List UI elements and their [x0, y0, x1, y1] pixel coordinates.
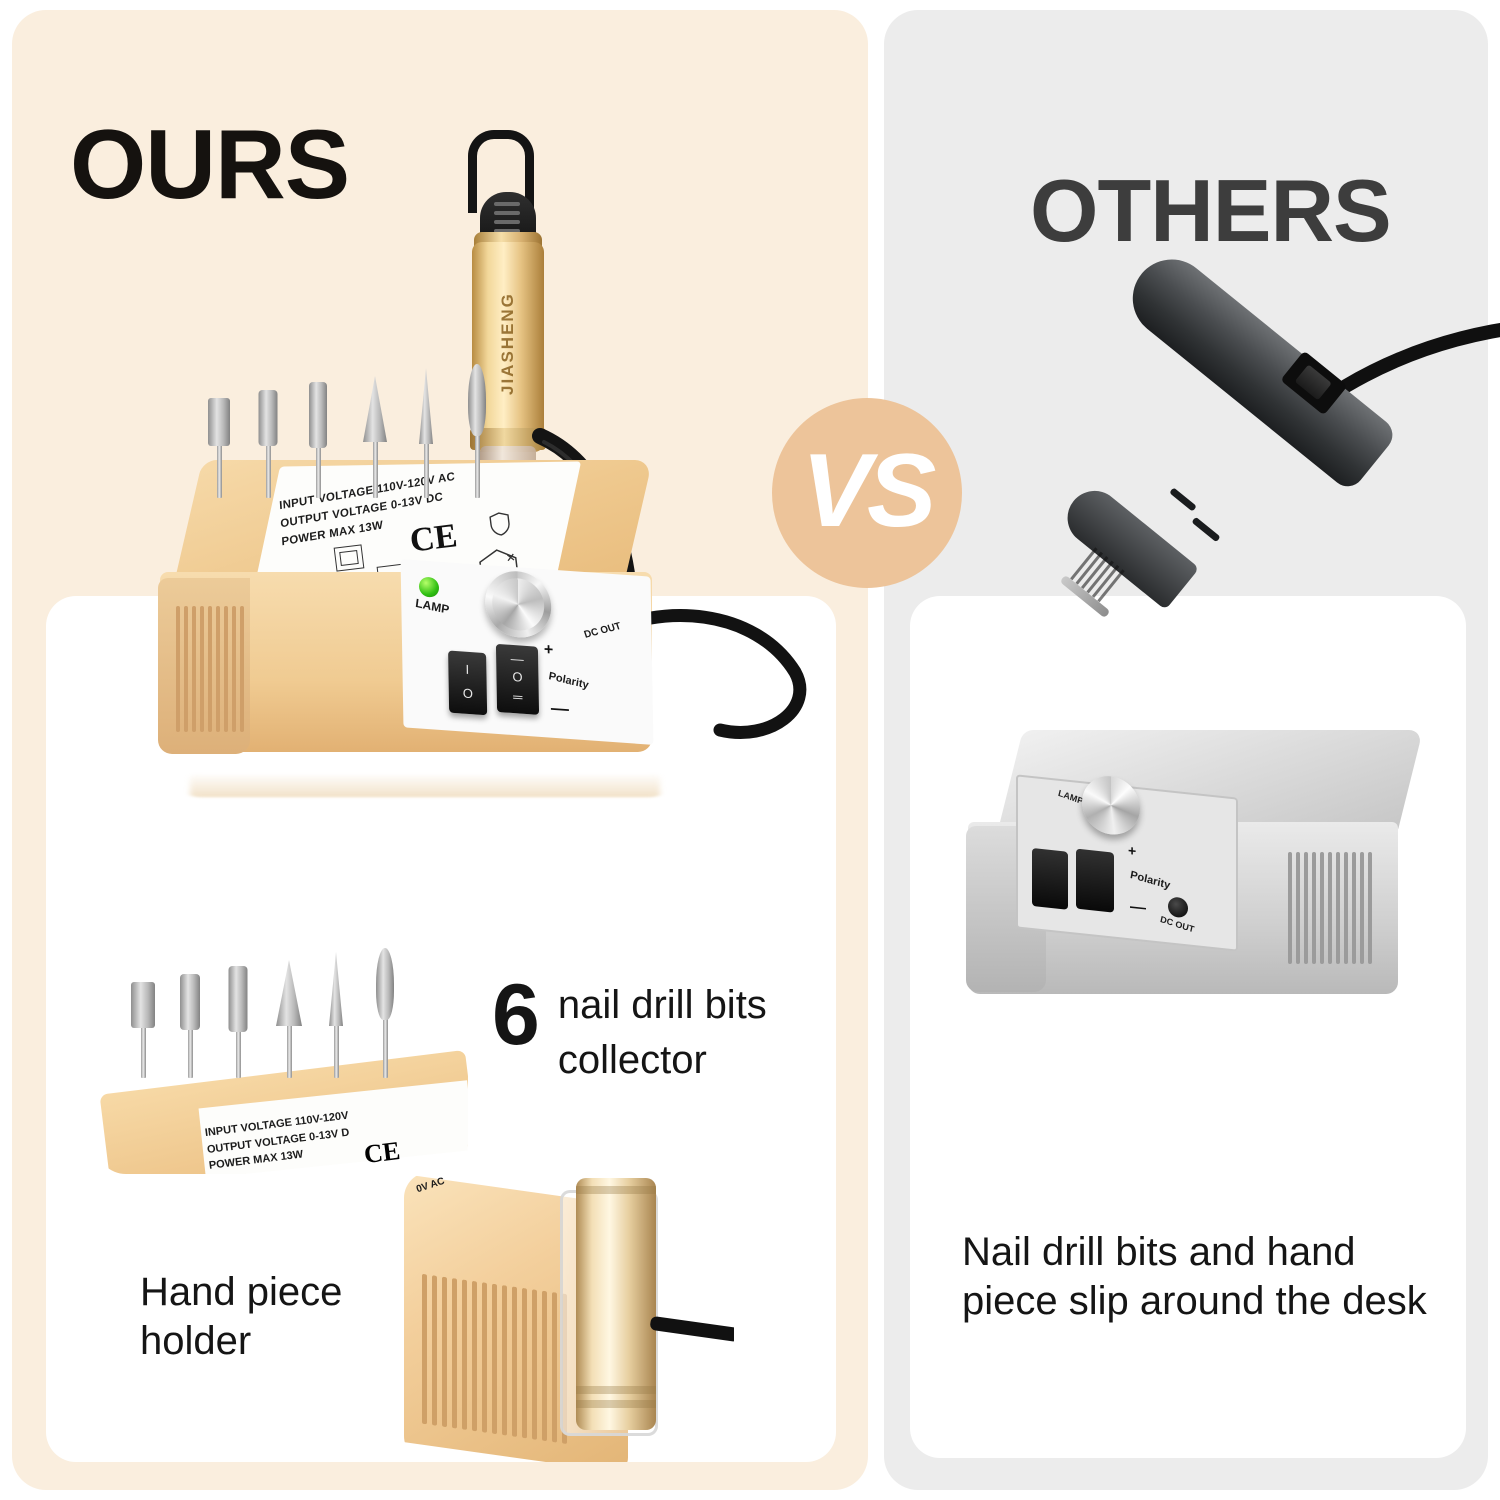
class2-insulation-icon: [334, 544, 365, 571]
others-caption: Nail drill bits and hand piece slip arou…: [962, 1228, 1462, 1326]
bits-collector-illustration: INPUT VOLTAGE 110V-120V OUTPUT VOLTAGE 0…: [96, 922, 468, 1174]
bits-collector-caption: 6 nail drill bits collector: [492, 975, 822, 1085]
polarity-switch-mid-glyph: O: [512, 669, 522, 685]
polarity-minus-label: —: [551, 698, 569, 720]
product-reflection: [190, 773, 660, 798]
polarity-switch-top-glyph: —: [511, 651, 524, 667]
drill-bit: [226, 966, 250, 1078]
shield-icon: [489, 511, 512, 537]
others-handpiece-slot: [1169, 487, 1197, 511]
dc-out-label: DC OUT: [583, 621, 623, 641]
bits-caption-line1: nail drill bits: [492, 975, 822, 1030]
bits-count: 6: [492, 975, 540, 1057]
others-polarity-label: Polarity: [1129, 869, 1171, 892]
others-polarity-switch[interactable]: [1076, 849, 1114, 913]
lamp-label: LAMP: [415, 596, 450, 617]
others-handpiece-illustration: [1040, 330, 1460, 700]
drill-bit: [206, 398, 232, 498]
handpiece-holder-photo-card: 0V AC: [404, 1172, 734, 1462]
drill-bit: [326, 952, 346, 1078]
comparison-infographic: OURS JIASHENG: [0, 0, 1500, 1500]
holder-vent-slots: [420, 1273, 570, 1444]
ce-mark-icon: CE: [408, 517, 460, 560]
others-caption-line2: piece slip around the desk: [962, 1277, 1462, 1326]
switch-off-glyph: O: [463, 685, 473, 701]
bits-collector-photo-card: INPUT VOLTAGE 110V-120V OUTPUT VOLTAGE 0…: [96, 922, 468, 1174]
inset-drill-bits-row: [130, 968, 430, 1078]
others-lamp-label: LAMP: [1057, 788, 1084, 806]
vs-badge: VS: [772, 398, 962, 588]
handpiece-holder-caption: Hand piece holder: [140, 1268, 420, 1366]
ours-drill-bits-row: [200, 378, 600, 498]
polarity-switch[interactable]: — O ═: [496, 644, 539, 715]
drill-bit: [276, 960, 302, 1078]
others-handpiece-cord: [1340, 320, 1500, 400]
drill-bit: [130, 982, 156, 1078]
power-switch[interactable]: I O: [448, 650, 487, 715]
drill-bit: [256, 390, 280, 498]
others-polarity-plus-label: +: [1128, 842, 1136, 859]
ours-product-illustration: JIASHENG INPUT VOLTAGE 110V-120V AC OUTP…: [150, 60, 850, 850]
others-power-switch[interactable]: [1032, 848, 1068, 910]
others-control-box-illustration: LAMP + Polarity — DC OUT: [968, 730, 1428, 1030]
drill-bit: [178, 974, 202, 1078]
others-caption-line1: Nail drill bits and hand: [962, 1228, 1462, 1277]
vs-label: VS: [802, 439, 933, 543]
inset-ce-mark-icon: CE: [362, 1136, 402, 1170]
polarity-plus-label: +: [544, 641, 554, 660]
drill-bit: [416, 368, 436, 498]
holder-handpiece-cord: [649, 1316, 734, 1342]
bits-caption-line2: collector: [492, 1030, 822, 1085]
holder-caption-line2: holder: [140, 1317, 420, 1366]
others-handpiece-slot: [1191, 517, 1220, 543]
others-control-panel: LAMP + Polarity — DC OUT: [1016, 774, 1238, 951]
handpiece-ring: [576, 1400, 656, 1408]
lamp-led-icon: [419, 576, 439, 597]
others-polarity-minus-label: —: [1130, 898, 1146, 918]
ours-control-panel: LAMP I O — O ═ + Polarity — DC OUT: [401, 559, 654, 745]
speed-knob[interactable]: [485, 569, 552, 640]
polarity-label: Polarity: [548, 670, 590, 691]
handpiece-ring: [576, 1186, 656, 1194]
drill-bit: [362, 376, 388, 498]
others-vent-slots: [1286, 852, 1378, 964]
holder-caption-line1: Hand piece: [140, 1268, 420, 1317]
drill-bit: [306, 382, 330, 498]
drill-bit: [466, 364, 488, 498]
others-dc-out-port: [1168, 896, 1188, 918]
handpiece-holder-illustration: 0V AC: [404, 1172, 734, 1462]
drill-bit: [374, 948, 396, 1078]
others-heading: OTHERS: [1030, 160, 1391, 262]
switch-on-glyph: I: [465, 662, 469, 677]
polarity-switch-bottom-glyph: ═: [513, 689, 522, 705]
vent-slots: [174, 606, 248, 732]
handpiece-ring: [576, 1386, 656, 1394]
